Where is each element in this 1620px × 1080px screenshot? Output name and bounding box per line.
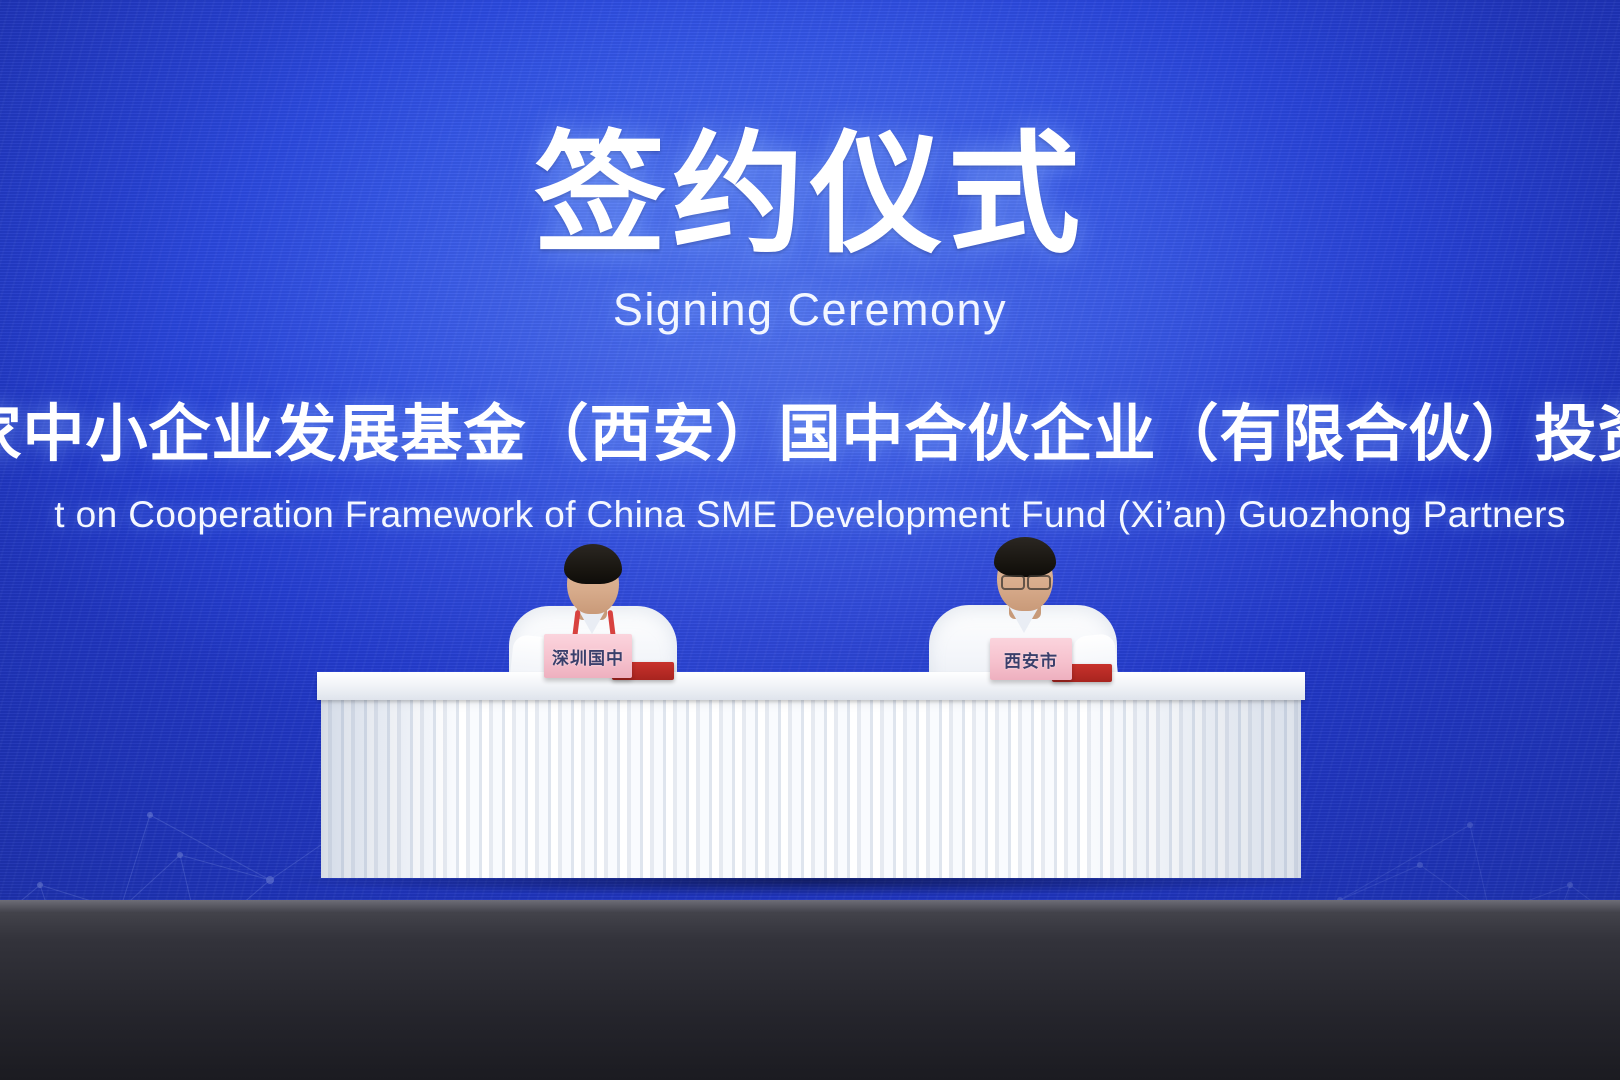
signatory-right-glasses — [1001, 575, 1025, 590]
table-skirt-shading — [321, 698, 1301, 878]
name-placard-right: 西安市 — [990, 638, 1072, 680]
signing-table — [317, 672, 1305, 877]
name-placard-right-text: 西安市 — [1004, 647, 1058, 672]
signatory-right-hair — [994, 537, 1056, 577]
name-placard-left-text: 深圳国中 — [552, 644, 624, 669]
stage-floor — [0, 900, 1620, 1080]
stage-floor-edge — [0, 900, 1620, 912]
signatory-left-hair — [564, 544, 622, 584]
signatory-right-glasses-2 — [1027, 575, 1051, 590]
name-placard-left: 深圳国中 — [544, 634, 632, 678]
table-top — [317, 672, 1305, 700]
signing-ceremony-photo: 签约仪式 Signing Ceremony 国家中小企业发展基金（西安）国中合伙… — [0, 0, 1620, 1080]
